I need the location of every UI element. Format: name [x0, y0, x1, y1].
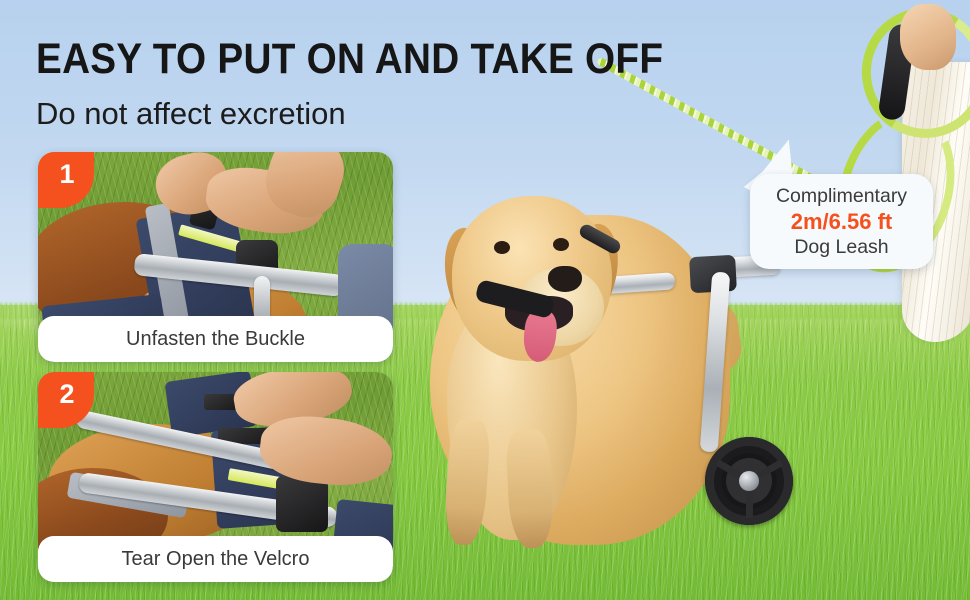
frame-clamp-block: [276, 476, 328, 532]
dog-eye-right: [553, 238, 569, 251]
step-1-number: 1: [57, 152, 74, 196]
dog-eye-left: [494, 241, 510, 254]
subheadline: Do not affect excretion: [36, 96, 346, 132]
step-2-number: 2: [57, 372, 74, 416]
step-2-caption: Tear Open the Velcro: [38, 536, 393, 582]
step-1-caption: Unfasten the Buckle: [38, 316, 393, 362]
callout-line-3: Dog Leash: [794, 235, 888, 260]
product-marketing-image: Complimentary 2m/6.56 ft Dog Leash EASY …: [0, 0, 970, 600]
step-card-2: 2 Tear Open the Velcro: [38, 372, 393, 582]
callout-leash-length: 2m/6.56 ft: [791, 209, 893, 235]
person-hand: [900, 4, 956, 70]
headline: EASY TO PUT ON AND TAKE OFF: [36, 36, 663, 82]
complimentary-leash-callout: Complimentary 2m/6.56 ft Dog Leash: [750, 174, 933, 269]
dog-nose: [548, 266, 582, 292]
callout-line-1: Complimentary: [776, 184, 907, 209]
wheel-hub: [739, 471, 759, 491]
step-card-1: 1 Unfasten the Buckle: [38, 152, 393, 362]
